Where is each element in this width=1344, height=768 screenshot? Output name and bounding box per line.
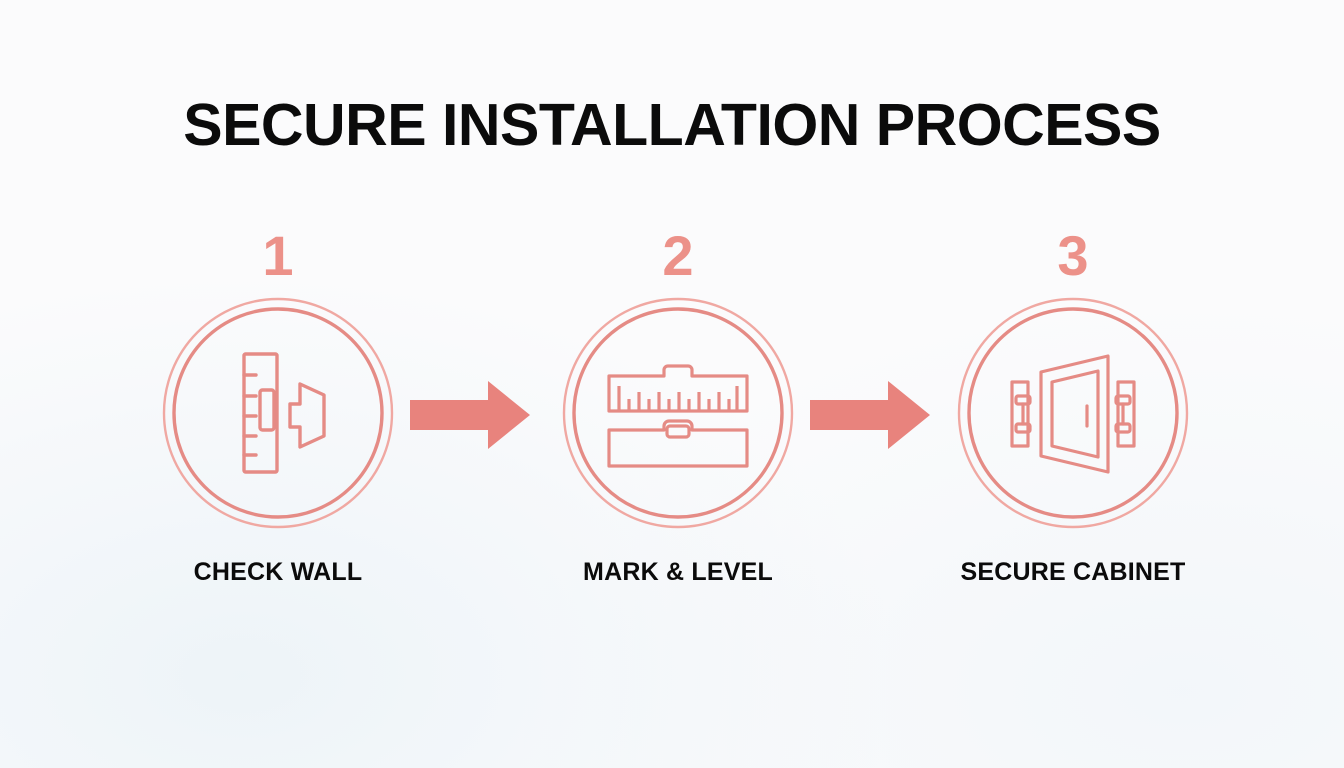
step-1-number: 1 bbox=[128, 228, 428, 288]
step-2[interactable]: 2 bbox=[528, 228, 828, 587]
arrow-step2-to-step3 bbox=[810, 381, 930, 449]
process-steps: 1 bbox=[0, 0, 1344, 768]
step-1-icon-badge bbox=[161, 296, 395, 530]
arrow-right-icon bbox=[410, 381, 530, 449]
step-2-number: 2 bbox=[528, 228, 828, 288]
step-3-label: SECURE CABINET bbox=[923, 558, 1223, 587]
cabinet-bracket-icon bbox=[956, 296, 1190, 530]
step-1[interactable]: 1 bbox=[128, 228, 428, 587]
wall-ruler-icon bbox=[161, 296, 395, 530]
step-1-label: CHECK WALL bbox=[128, 558, 428, 587]
step-3-number: 3 bbox=[923, 228, 1223, 288]
tape-measure-level-icon bbox=[561, 296, 795, 530]
step-3-icon-badge bbox=[956, 296, 1190, 530]
step-2-icon-badge bbox=[561, 296, 795, 530]
step-2-label: MARK & LEVEL bbox=[528, 558, 828, 587]
arrow-step1-to-step2 bbox=[410, 381, 530, 449]
arrow-right-icon bbox=[810, 381, 930, 449]
step-3[interactable]: 3 bbox=[923, 228, 1223, 587]
